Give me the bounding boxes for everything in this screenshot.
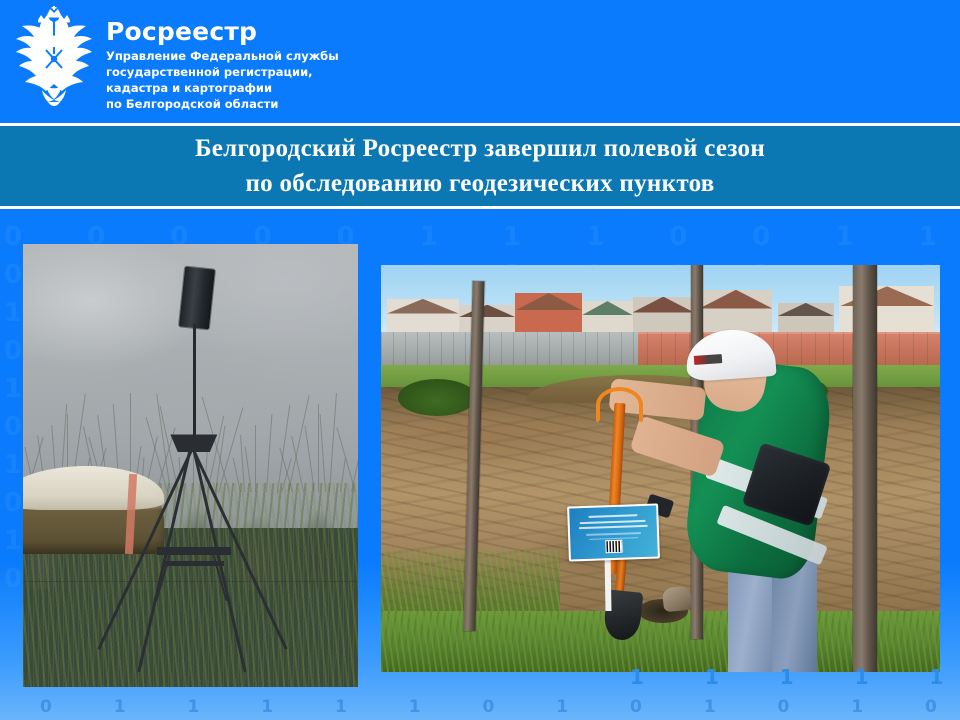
sign-text-line <box>579 525 648 529</box>
slide-canvas: 0 0 0 0 0 1 1 1 0 0 1 1 0 1 0 0 1 0 1 0 … <box>0 0 960 720</box>
subtitle-line-4: по Белгородской области <box>106 97 339 113</box>
tower-mast <box>193 324 197 439</box>
geodetic-tower-photo <box>23 244 358 687</box>
sign-text-line <box>589 514 638 518</box>
slide-header: Росреестр Управление Федеральной службы … <box>0 0 960 123</box>
cap-logo <box>694 354 722 365</box>
qr-code <box>605 540 623 554</box>
horizon-line <box>23 581 358 582</box>
tower-cylinder <box>179 267 215 330</box>
logo-text-block: Росреестр Управление Федеральной службы … <box>106 6 339 112</box>
subtitle-line-1: Управление Федеральной службы <box>106 49 339 65</box>
surveyor-digging-photo <box>381 265 940 672</box>
subtitle-line-3: кадастра и картографии <box>106 81 339 97</box>
brand-title: Росреестр <box>106 19 339 44</box>
title-banner: Белгородский Росреестр завершил полевой … <box>0 123 960 209</box>
brand-subtitle: Управление Федеральной службы государств… <box>106 49 339 112</box>
rosreestr-logo: Росреестр Управление Федеральной службы … <box>12 6 339 112</box>
geodetic-signal-tower <box>23 244 358 687</box>
white-cap <box>684 327 777 382</box>
russian-double-headed-eagle-emblem-icon <box>12 6 96 106</box>
binary-footer-row: 0 1 1 1 1 1 0 1 0 1 0 1 0 0 0 1 1 0 0 0 … <box>40 692 960 720</box>
surveyor-person <box>381 265 940 672</box>
title-line-2: по обследованию геодезических пунктов <box>0 166 960 201</box>
title-line-1: Белгородский Росреестр завершил полевой … <box>0 131 960 166</box>
sign-post <box>604 554 611 611</box>
geodetic-point-information-sign <box>567 504 660 562</box>
sign-text-line <box>580 520 646 524</box>
subtitle-line-2: государственной регистрации, <box>106 65 339 81</box>
sign-text-line <box>586 533 641 536</box>
